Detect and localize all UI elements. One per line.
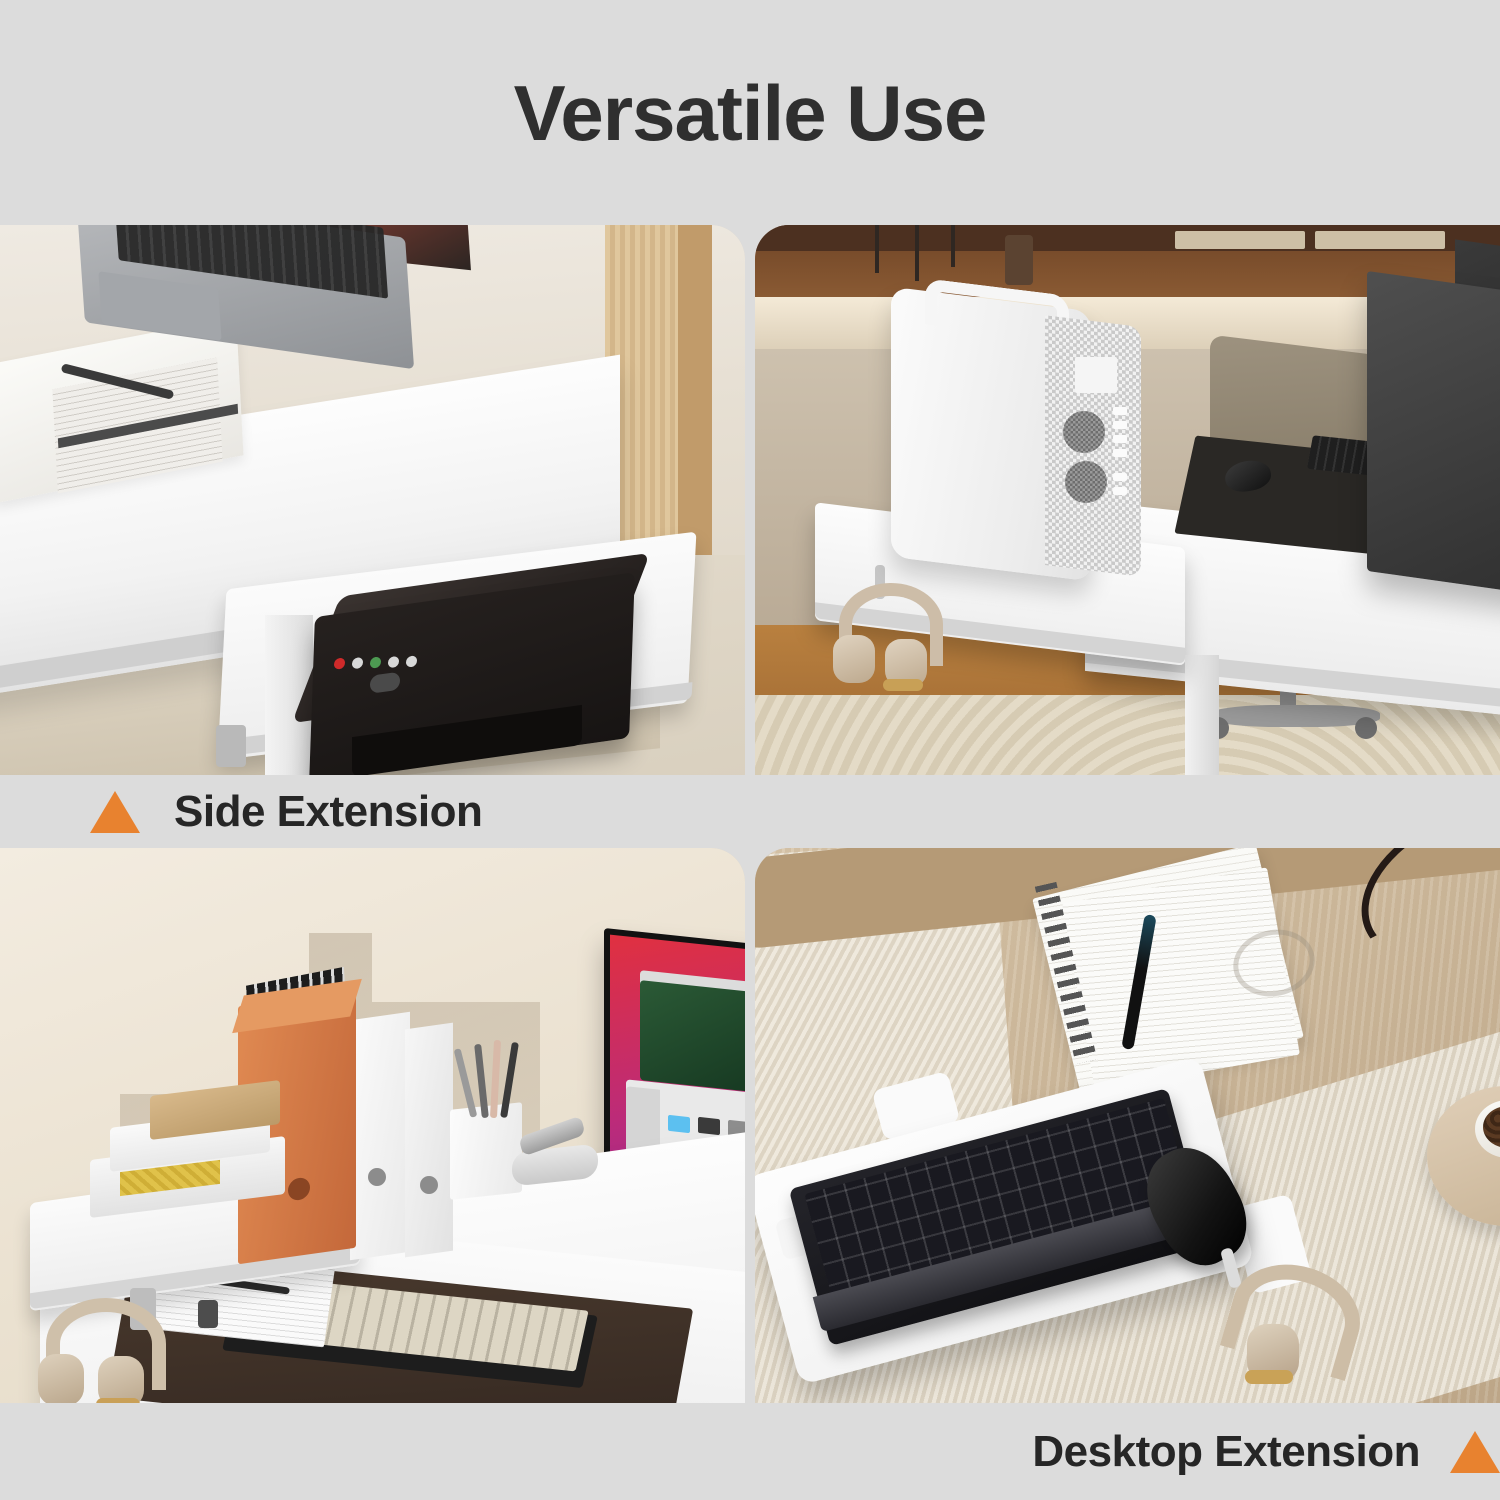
panel-side-extension-storage — [0, 848, 745, 1403]
panel-side-extension-pc-tower — [755, 225, 1500, 775]
shelf-decor-rod — [875, 225, 879, 273]
shelf-vase — [1005, 235, 1033, 285]
panel-desktop-extension-keyboard — [755, 848, 1500, 1403]
pc-port — [1113, 421, 1127, 429]
pc-port — [1113, 449, 1127, 457]
label-band-side-extension: Side Extension — [0, 775, 1500, 848]
pc-expansion-slots — [1075, 357, 1117, 393]
headphone-ear-cup — [98, 1356, 144, 1403]
triangle-up-icon — [1450, 1431, 1500, 1473]
finder-file-thumbnail — [698, 1117, 720, 1135]
shelf-decor-rod — [915, 225, 919, 281]
page-header: Versatile Use — [0, 0, 1500, 225]
side-extension-label: Side Extension — [174, 787, 482, 837]
printer-button — [388, 656, 399, 669]
shelf-book — [1175, 231, 1305, 249]
headphone-accent — [883, 679, 923, 691]
photo-app-window — [640, 980, 745, 1096]
panel-side-extension-printer — [0, 225, 745, 775]
headphones — [1225, 1266, 1355, 1386]
shelf-decor-rod — [951, 225, 955, 267]
monitor — [1367, 271, 1500, 599]
pc-port — [1113, 407, 1127, 415]
printer-button — [406, 655, 417, 668]
printer-button — [370, 656, 381, 669]
pc-port — [1113, 473, 1127, 481]
desktop-extension-label: Desktop Extension — [1032, 1427, 1420, 1477]
label-band-desktop-extension: Desktop Extension — [0, 1403, 1500, 1500]
desk-leg — [1185, 655, 1219, 775]
headphones — [38, 1298, 158, 1403]
pc-port — [1113, 487, 1127, 495]
file-box-hole — [420, 1176, 438, 1194]
file-box-hole — [368, 1168, 386, 1186]
page-title: Versatile Use — [514, 74, 987, 152]
product-feature-page: Versatile Use — [0, 0, 1500, 1500]
wood-door-frame — [678, 225, 712, 585]
pc-port — [1113, 435, 1127, 443]
chair-caster — [1355, 717, 1377, 739]
triangle-up-icon — [90, 791, 140, 833]
tray-clamp-knob — [198, 1300, 218, 1328]
pc-fan — [1063, 411, 1105, 453]
white-file-box — [405, 1023, 453, 1258]
printer-power-button — [334, 657, 345, 670]
headphones — [833, 583, 933, 683]
headphone-accent — [1245, 1370, 1293, 1384]
printer-button — [352, 657, 363, 670]
pc-fan — [1065, 461, 1107, 503]
white-file-box — [350, 1012, 410, 1260]
office-chair-base — [1210, 705, 1380, 727]
headphone-ear-cup — [833, 635, 875, 683]
headphone-ear-cup — [38, 1354, 84, 1403]
shelf-book — [1315, 231, 1445, 249]
area-rug — [755, 695, 1500, 775]
tray-clamp — [216, 725, 246, 767]
finder-folder-icon — [668, 1115, 690, 1133]
